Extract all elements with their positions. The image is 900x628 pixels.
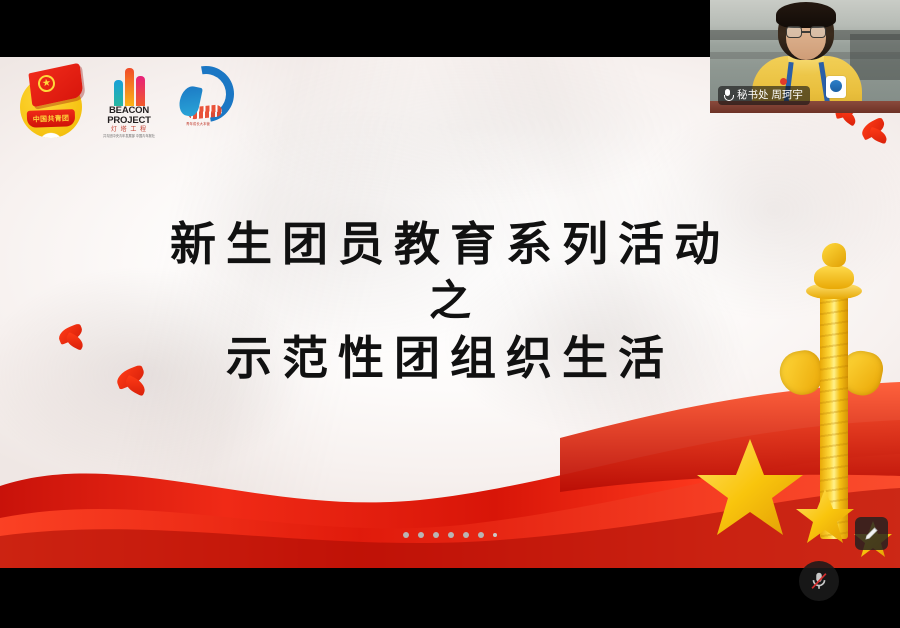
microphone-muted-icon (808, 570, 830, 592)
participant-video-tile[interactable]: 秘书处 周珂宇 (710, 0, 900, 113)
letterbox-bar-bottom (0, 568, 900, 628)
mic-mute-button[interactable] (799, 561, 839, 601)
slide-position-dots[interactable] (0, 532, 900, 538)
slide-dot[interactable] (418, 532, 424, 538)
annotate-button[interactable] (855, 517, 888, 550)
slide-title-line-2: 之 (0, 275, 900, 327)
participant-badge (826, 76, 846, 98)
slide-dot[interactable] (463, 532, 469, 538)
participant-hair (776, 2, 836, 28)
slide-title-line-3: 示范性团组织生活 (0, 329, 900, 387)
slide-dot[interactable] (478, 532, 484, 538)
pencil-icon (862, 524, 881, 543)
slide-dot[interactable] (493, 533, 497, 537)
slide-dot[interactable] (403, 532, 409, 538)
participant-glasses (786, 26, 826, 38)
slide-dot[interactable] (433, 532, 439, 538)
video-bg-window (850, 34, 900, 80)
slide-title-line-1: 新生团员教育系列活动 (0, 215, 900, 273)
participant-name-chip: 秘书处 周珂宇 (718, 86, 810, 105)
slide-dot[interactable] (448, 532, 454, 538)
microphone-icon (723, 89, 732, 102)
shared-slide[interactable]: ★ 中国共青团 BEACON PROJECT 灯 塔 工 程 共青团中央青年发展… (0, 57, 900, 568)
participant-name: 秘书处 周珂宇 (737, 86, 803, 105)
participant-pin (780, 78, 787, 85)
screen-share-app: ★ 中国共青团 BEACON PROJECT 灯 塔 工 程 共青团中央青年发展… (0, 0, 900, 628)
